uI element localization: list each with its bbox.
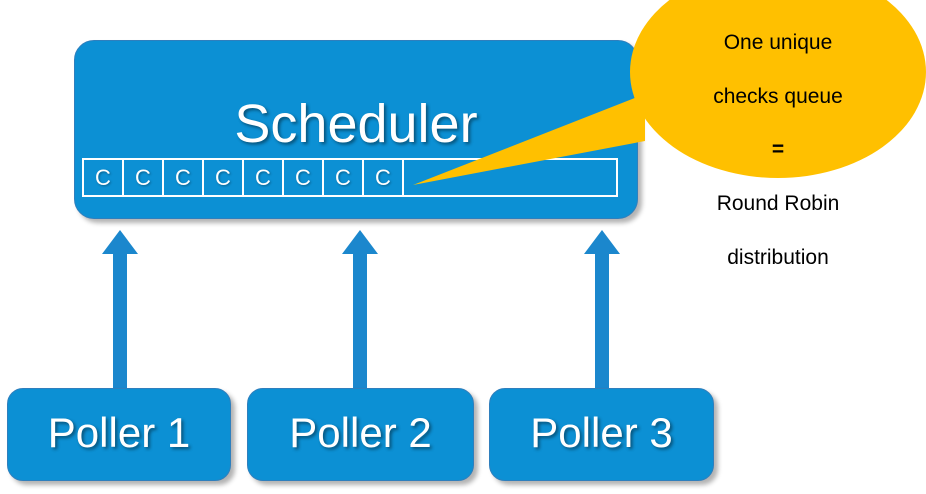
callout-line-1: One unique — [645, 29, 911, 56]
poller-2-node[interactable]: Poller 2 — [247, 388, 474, 481]
arrow-poller-3-to-scheduler — [582, 228, 622, 390]
queue-cell: C — [124, 160, 164, 195]
diagram-canvas: Scheduler C C C C C C C C Poller 1 Polle… — [0, 0, 926, 494]
queue-cell: C — [284, 160, 324, 195]
poller-3-label: Poller 3 — [490, 409, 713, 457]
queue-cell: C — [324, 160, 364, 195]
poller-1-node[interactable]: Poller 1 — [7, 388, 231, 481]
callout-line-4: distribution — [645, 244, 911, 271]
queue-cell: C — [84, 160, 124, 195]
poller-3-node[interactable]: Poller 3 — [489, 388, 714, 481]
arrow-poller-1-to-scheduler — [100, 228, 140, 390]
callout-equals-sign: = — [645, 137, 911, 163]
queue-cell: C — [204, 160, 244, 195]
queue-cell: C — [164, 160, 204, 195]
poller-1-label: Poller 1 — [8, 409, 230, 457]
callout-line-2: checks queue — [645, 83, 911, 110]
callout-bubble[interactable]: One unique checks queue = Round Robin di… — [395, 0, 926, 188]
callout-text-block: One unique checks queue = Round Robin di… — [645, 2, 911, 298]
queue-cell: C — [244, 160, 284, 195]
callout-line-3: Round Robin — [645, 190, 911, 217]
arrow-poller-2-to-scheduler — [340, 228, 380, 390]
poller-2-label: Poller 2 — [248, 409, 473, 457]
